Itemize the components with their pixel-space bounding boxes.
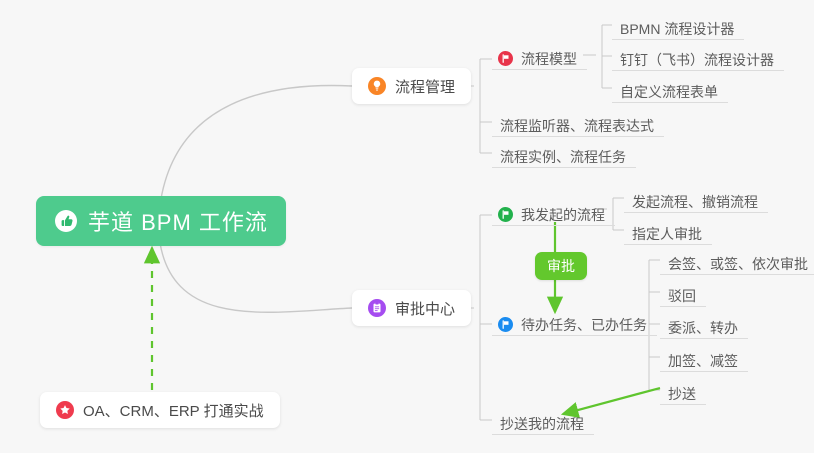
node-label-process-listener-expression: 流程监听器、流程表达式 <box>500 119 654 133</box>
node-countersign[interactable]: 会签、或签、依次审批 <box>660 245 814 275</box>
node-label-countersign: 会签、或签、依次审批 <box>668 257 808 271</box>
branch-label-approval-center: 审批中心 <box>395 298 455 319</box>
node-label-reject: 驳回 <box>668 289 696 303</box>
node-reject[interactable]: 驳回 <box>660 277 706 307</box>
node-process-instance-task[interactable]: 流程实例、流程任务 <box>492 138 636 168</box>
mindmap-canvas: 芋道 BPM 工作流 流程管理 流程模型 BPMN 流程设计器 钉钉（飞书）流程 <box>0 0 814 453</box>
node-my-started-process[interactable]: 我发起的流程 <box>492 196 615 226</box>
node-label-dingtalk-feishu-designer: 钉钉（飞书）流程设计器 <box>620 53 774 67</box>
node-label-custom-process-form: 自定义流程表单 <box>620 85 718 99</box>
node-label-cc: 抄送 <box>668 387 696 401</box>
node-cc-to-me-process[interactable]: 抄送我的流程 <box>492 405 594 435</box>
branch-node-approval-center[interactable]: 审批中心 <box>352 290 471 326</box>
star-icon <box>56 401 74 419</box>
branch-label-process-management: 流程管理 <box>395 76 455 97</box>
connector-root-to-approval-center <box>160 243 352 312</box>
floating-node-label-integration-practice: OA、CRM、ERP 打通实战 <box>83 400 264 421</box>
node-label-add-remove-sign: 加签、减签 <box>668 354 738 368</box>
node-label-todo-done-task: 待办任务、已办任务 <box>521 318 647 332</box>
floating-node-integration-practice[interactable]: OA、CRM、ERP 打通实战 <box>40 392 280 428</box>
node-todo-done-task[interactable]: 待办任务、已办任务 <box>492 306 657 336</box>
node-label-delegate-transfer: 委派、转办 <box>668 321 738 335</box>
flag-icon <box>498 317 513 332</box>
node-cc[interactable]: 抄送 <box>660 375 706 405</box>
flag-icon <box>498 207 513 222</box>
root-label: 芋道 BPM 工作流 <box>88 205 268 237</box>
node-process-model[interactable]: 流程模型 <box>492 40 587 70</box>
node-label-process-instance-task: 流程实例、流程任务 <box>500 150 626 164</box>
node-label-my-started-process: 我发起的流程 <box>521 208 605 222</box>
branch-node-process-management[interactable]: 流程管理 <box>352 68 471 104</box>
connector-root-to-process-management <box>160 85 352 205</box>
node-process-listener-expression[interactable]: 流程监听器、流程表达式 <box>492 107 664 137</box>
node-custom-process-form[interactable]: 自定义流程表单 <box>612 73 728 103</box>
node-delegate-transfer[interactable]: 委派、转办 <box>660 309 748 339</box>
node-add-remove-sign[interactable]: 加签、减签 <box>660 342 748 372</box>
node-dingtalk-feishu-designer[interactable]: 钉钉（飞书）流程设计器 <box>612 41 784 71</box>
node-label-cc-to-me-process: 抄送我的流程 <box>500 417 584 431</box>
node-label-assignee-approval: 指定人审批 <box>632 227 702 241</box>
thumbs-up-icon <box>54 209 78 233</box>
approval-badge[interactable]: 审批 <box>535 252 587 280</box>
approval-badge-label: 审批 <box>547 256 575 276</box>
lightbulb-icon <box>368 77 386 95</box>
node-label-start-cancel-process: 发起流程、撤销流程 <box>632 195 758 209</box>
node-bpmn-designer[interactable]: BPMN 流程设计器 <box>612 10 744 40</box>
node-assignee-approval[interactable]: 指定人审批 <box>624 215 712 245</box>
node-start-cancel-process[interactable]: 发起流程、撤销流程 <box>624 183 768 213</box>
root-node[interactable]: 芋道 BPM 工作流 <box>36 196 286 246</box>
node-label-bpmn-designer: BPMN 流程设计器 <box>620 22 734 36</box>
flag-icon <box>498 51 513 66</box>
clipboard-icon <box>368 299 386 317</box>
node-label-process-model: 流程模型 <box>521 52 577 66</box>
